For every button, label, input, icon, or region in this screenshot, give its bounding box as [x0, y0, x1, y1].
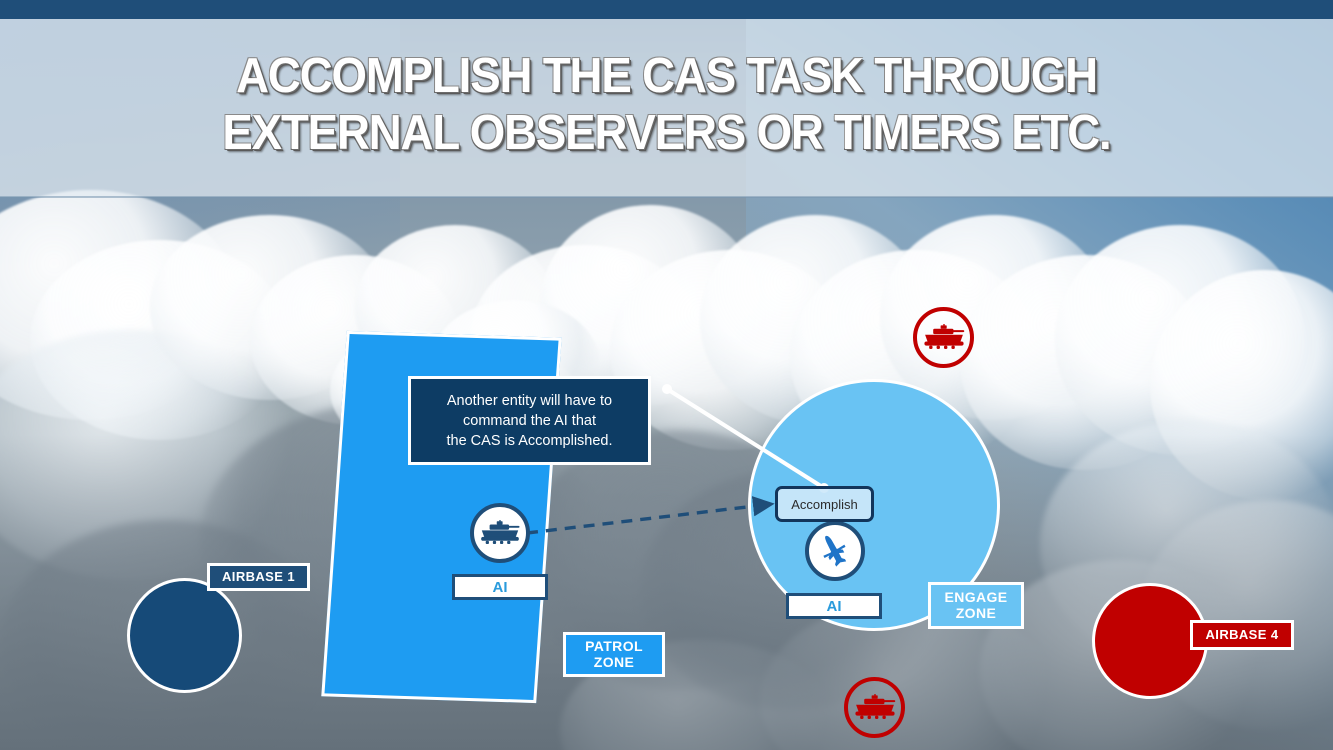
- slide-canvas: ACCOMPLISH THE CAS TASK THROUGH EXTERNAL…: [0, 0, 1333, 750]
- callout-leader-dot-start: [662, 384, 672, 394]
- airbase-4-label[interactable]: AIRBASE 4: [1190, 620, 1294, 650]
- patrol-zone-label[interactable]: PATROL ZONE: [563, 632, 665, 677]
- airbase-1-circle[interactable]: [127, 578, 242, 693]
- entity-ai-air-label[interactable]: AI: [786, 593, 882, 619]
- callout-note[interactable]: Another entity will have to command the …: [408, 376, 651, 465]
- command-link-line: [527, 504, 772, 533]
- entity-ai-ground[interactable]: [470, 503, 530, 563]
- diagram-layer: Accomplish Another entity will have to c…: [0, 0, 1333, 750]
- entity-hostile-2[interactable]: [844, 677, 905, 738]
- tank-icon: [853, 694, 897, 721]
- entity-ai-ground-label[interactable]: AI: [452, 574, 548, 600]
- tank-icon: [922, 324, 966, 351]
- tank-icon: [479, 520, 521, 546]
- engage-zone-label[interactable]: ENGAGE ZONE: [928, 582, 1024, 629]
- entity-hostile-1[interactable]: [913, 307, 974, 368]
- airbase-1-label[interactable]: AIRBASE 1: [207, 563, 310, 591]
- jet-icon: [815, 531, 855, 571]
- entity-ai-air[interactable]: [805, 521, 865, 581]
- task-accomplish-box[interactable]: Accomplish: [775, 486, 874, 522]
